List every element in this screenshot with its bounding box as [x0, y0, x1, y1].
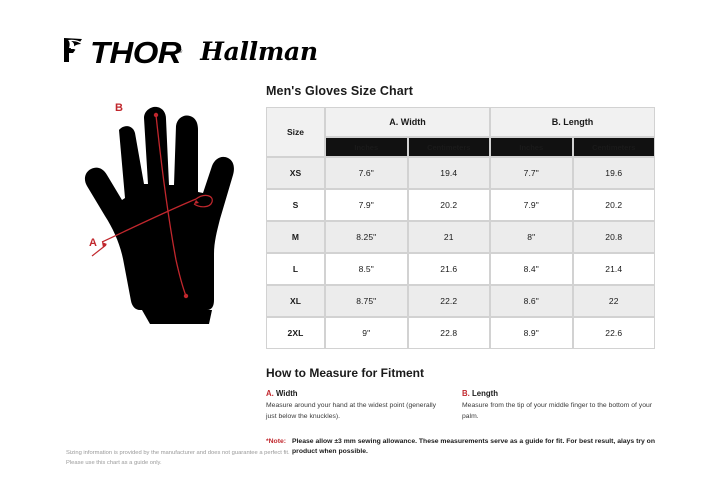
diagram-label-a: A [89, 238, 97, 249]
footer-disclaimer: Sizing information is provided by the ma… [66, 448, 496, 468]
cell-size: L [266, 253, 325, 285]
header-group-width: A. Width [325, 107, 490, 137]
cell-size: XL [266, 285, 325, 317]
table-row: XL 8.75" 22.2 8.6" 22 [266, 285, 655, 317]
cell-length-in: 8.4" [490, 253, 573, 285]
cell-width-in: 9" [325, 317, 408, 349]
cell-size: S [266, 189, 325, 221]
table-row: L 8.5" 21.6 8.4" 21.4 [266, 253, 655, 285]
cell-length-cm: 20.2 [573, 189, 656, 221]
cell-width-cm: 19.4 [408, 157, 491, 189]
footer-line-2: Please use this chart as a guide only. [66, 458, 496, 468]
cell-width-in: 8.75" [325, 285, 408, 317]
cell-width-cm: 21.6 [408, 253, 491, 285]
brand-header: THOR ® Hallman [62, 30, 318, 74]
hand-measurement-diagram: B A [62, 92, 272, 332]
measure-width-heading: A. Width [266, 389, 448, 398]
footer-line-1: Sizing information is provided by the ma… [66, 448, 496, 458]
diagram-label-b: B [115, 103, 123, 114]
hallman-logo: Hallman [200, 39, 318, 64]
cell-size: XS [266, 157, 325, 189]
table-body: XS 7.6" 19.4 7.7" 19.6 S 7.9" 20.2 7.9" … [266, 157, 655, 349]
thor-logo: THOR ® [62, 35, 182, 70]
thor-wordmark: THOR [90, 37, 181, 68]
thor-helmet-icon [62, 35, 88, 70]
cell-width-cm: 22.2 [408, 285, 491, 317]
measure-length-mark: B. [462, 389, 470, 398]
header-size: Size [266, 107, 325, 157]
measure-length-name: Length [472, 389, 498, 398]
cell-width-cm: 20.2 [408, 189, 491, 221]
cell-length-in: 8.9" [490, 317, 573, 349]
cell-size: M [266, 221, 325, 253]
cell-length-in: 7.9" [490, 189, 573, 221]
measure-width-text: Measure around your hand at the widest p… [266, 401, 448, 421]
header-length-inches: Inches [490, 137, 573, 157]
page-title: Men's Gloves Size Chart [266, 84, 658, 98]
hand-silhouette-icon [62, 92, 272, 332]
cell-width-in: 8.5" [325, 253, 408, 285]
cell-width-cm: 22.8 [408, 317, 491, 349]
cell-length-cm: 21.4 [573, 253, 656, 285]
cell-width-in: 8.25" [325, 221, 408, 253]
cell-width-in: 7.9" [325, 189, 408, 221]
size-chart-table: Size A. Width B. Length Inches Centimete… [266, 107, 655, 349]
how-to-measure-columns: A. Width Measure around your hand at the… [266, 389, 658, 422]
cell-length-cm: 22 [573, 285, 656, 317]
cell-length-in: 7.7" [490, 157, 573, 189]
cell-size: 2XL [266, 317, 325, 349]
measure-width-block: A. Width Measure around your hand at the… [266, 389, 462, 422]
table-row: S 7.9" 20.2 7.9" 20.2 [266, 189, 655, 221]
measure-length-block: B. Length Measure from the tip of your m… [462, 389, 658, 422]
cell-length-cm: 20.8 [573, 221, 656, 253]
how-to-measure-section: How to Measure for Fitment A. Width Meas… [266, 366, 658, 458]
cell-length-in: 8" [490, 221, 573, 253]
cell-length-cm: 22.6 [573, 317, 656, 349]
table-row: XS 7.6" 19.4 7.7" 19.6 [266, 157, 655, 189]
note-label: *Note: [266, 437, 286, 448]
header-width-inches: Inches [325, 137, 408, 157]
cell-length-in: 8.6" [490, 285, 573, 317]
header-width-centimeters: Centimeters [408, 137, 491, 157]
table-row: 2XL 9" 22.8 8.9" 22.6 [266, 317, 655, 349]
table-row: M 8.25" 21 8" 20.8 [266, 221, 655, 253]
header-length-centimeters: Centimeters [573, 137, 656, 157]
how-to-measure-title: How to Measure for Fitment [266, 366, 658, 380]
table-header-row-groups: Size A. Width B. Length [266, 107, 655, 137]
table-header-row-units: Inches Centimeters Inches Centimeters [266, 137, 655, 157]
size-chart-page: THOR ® Hallman B A [0, 0, 720, 492]
header-group-length: B. Length [490, 107, 655, 137]
chart-content: Men's Gloves Size Chart Size A. Width B.… [266, 84, 658, 458]
measure-width-name: Width [276, 389, 298, 398]
measure-length-text: Measure from the tip of your middle fing… [462, 401, 658, 421]
table-head: Size A. Width B. Length Inches Centimete… [266, 107, 655, 157]
cell-length-cm: 19.6 [573, 157, 656, 189]
cell-width-in: 7.6" [325, 157, 408, 189]
measure-length-heading: B. Length [462, 389, 658, 398]
measure-width-mark: A. [266, 389, 274, 398]
cell-width-cm: 21 [408, 221, 491, 253]
